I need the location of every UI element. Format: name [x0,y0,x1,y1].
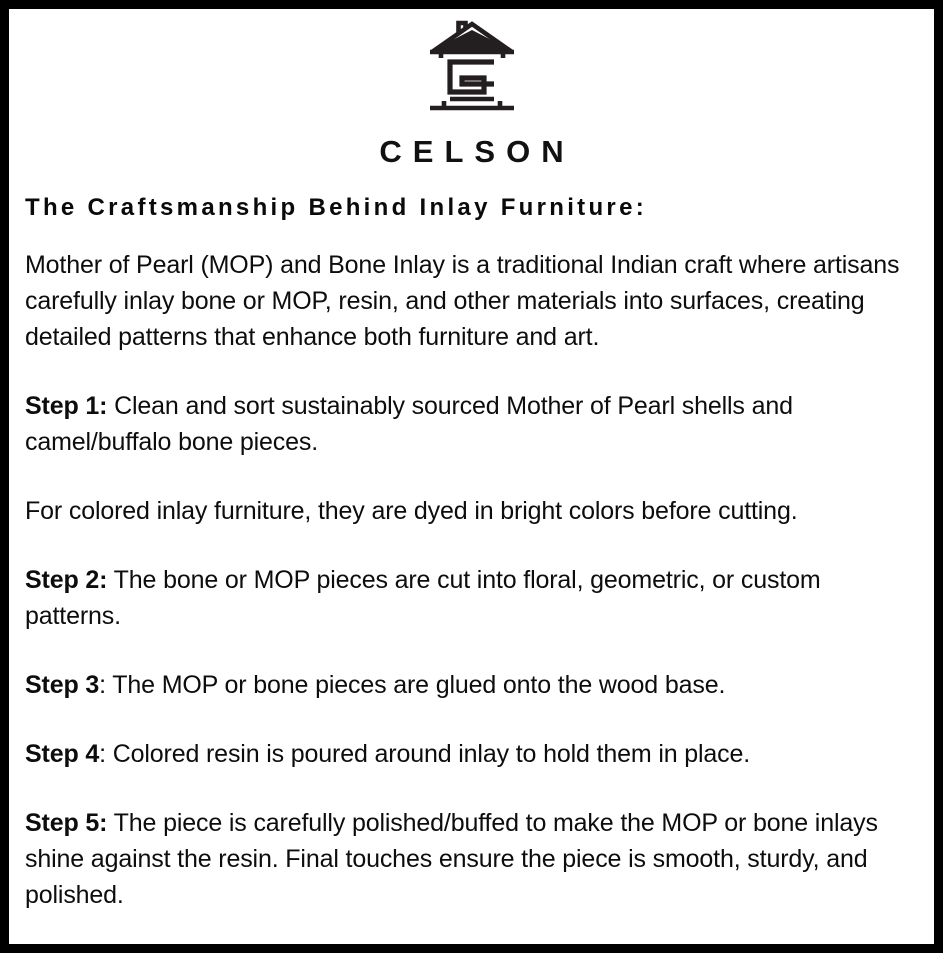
step-paragraph-5: Step 4: Colored resin is poured around i… [25,736,918,772]
step-paragraph-2: For colored inlay furniture, they are dy… [25,493,918,529]
brand-wordmark: CELSON [9,136,934,167]
step-label-6: Step 5: [25,809,107,837]
step-paragraph-3: Step 2: The bone or MOP pieces are cut i… [25,562,918,634]
brand-block: CELSON [9,9,934,167]
page-title: The Craftsmanship Behind Inlay Furniture… [9,194,934,223]
step-label-5: Step 4 [25,740,99,768]
step-label-4: Step 3 [25,671,99,699]
step-paragraph-4: Step 3: The MOP or bone pieces are glued… [25,667,918,703]
step-text-1: Clean and sort sustainably sourced Mothe… [25,392,793,456]
step-text-4: : The MOP or bone pieces are glued onto … [99,671,725,699]
body-copy: Mother of Pearl (MOP) and Bone Inlay is … [9,247,934,913]
step-paragraph-1: Step 1: Clean and sort sustainably sourc… [25,388,918,460]
intro-paragraph: Mother of Pearl (MOP) and Bone Inlay is … [25,247,918,355]
step-text-5: : Colored resin is poured around inlay t… [99,740,750,768]
step-label-3: Step 2: [25,566,107,594]
step-paragraph-6: Step 5: The piece is carefully polished/… [25,805,918,913]
step-label-1: Step 1: [25,392,107,420]
step-text-3: The bone or MOP pieces are cut into flor… [25,566,821,630]
poster-inner: CELSON The Craftsmanship Behind Inlay Fu… [9,9,934,944]
step-text-6: The piece is carefully polished/buffed t… [25,809,878,909]
step-text-2: For colored inlay furniture, they are dy… [25,497,798,525]
house-monogram-icon [424,18,520,118]
poster-card: CELSON The Craftsmanship Behind Inlay Fu… [0,0,943,953]
